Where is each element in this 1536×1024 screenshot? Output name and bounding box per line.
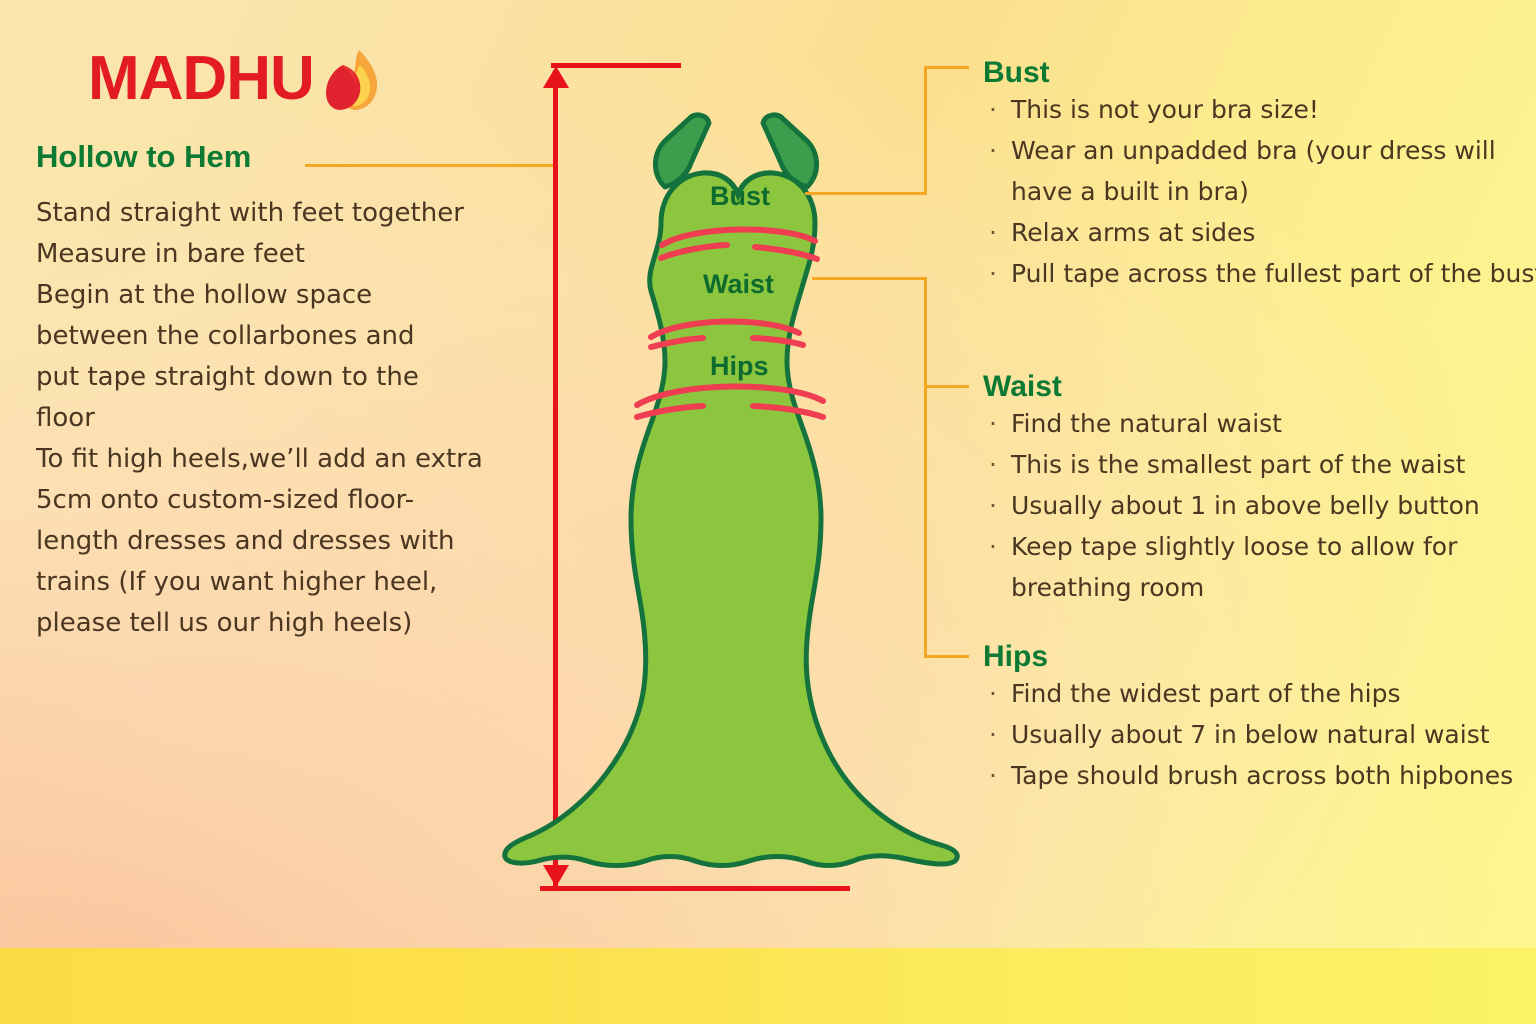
bullet-glyph: ·	[989, 714, 997, 755]
bullet-glyph: ·	[989, 130, 997, 171]
waist-bullet-list: ·Find the natural waist ·This is the sma…	[983, 403, 1536, 608]
bullet-glyph: ·	[989, 403, 997, 444]
dress-label-waist: Waist	[703, 269, 774, 300]
bullet-glyph: ·	[989, 444, 997, 485]
infographic-canvas: MADHU Hollow to Hem Stand straight with …	[0, 0, 1536, 1024]
bust-bullet-list: ·This is not your bra size! ·Wear an unp…	[983, 89, 1536, 294]
bullet-item: ·This is the smallest part of the waist	[983, 444, 1536, 485]
waist-heading: Waist	[983, 370, 1536, 403]
section-waist: Waist ·Find the natural waist ·This is t…	[983, 370, 1536, 608]
hollow-to-hem-heading: Hollow to Hem	[36, 139, 251, 175]
bullet-text: Usually about 1 in above belly button	[1011, 491, 1480, 520]
brand-name: MADHU	[88, 48, 314, 110]
bullet-text: Find the widest part of the hips	[1011, 679, 1400, 708]
bullet-item: ·Tape should brush across both hipbones	[983, 755, 1536, 796]
bust-connector-vertical	[924, 66, 927, 195]
bullet-text: Wear an unpadded bra (your dress will ha…	[1011, 136, 1496, 206]
waist-connector-elbow	[924, 385, 969, 388]
section-hips: Hips ·Find the widest part of the hips ·…	[983, 640, 1536, 796]
bullet-glyph: ·	[989, 89, 997, 130]
bullet-item: ·Wear an unpadded bra (your dress will h…	[983, 130, 1536, 212]
bullet-item: ·Find the widest part of the hips	[983, 673, 1536, 714]
bullet-text: Relax arms at sides	[1011, 218, 1255, 247]
hips-connector-elbow	[924, 655, 969, 658]
bullet-glyph: ·	[989, 673, 997, 714]
bullet-glyph: ·	[989, 526, 997, 567]
bullet-item: ·Usually about 1 in above belly button	[983, 485, 1536, 526]
flame-icon	[324, 48, 382, 114]
bullet-glyph: ·	[989, 253, 997, 294]
bullet-item: ·Find the natural waist	[983, 403, 1536, 444]
bullet-text: Usually about 7 in below natural waist	[1011, 720, 1490, 749]
hips-heading: Hips	[983, 640, 1536, 673]
bust-connector-horizontal	[805, 192, 927, 195]
section-bust: Bust ·This is not your bra size! ·Wear a…	[983, 56, 1536, 294]
bullet-text: This is the smallest part of the waist	[1011, 450, 1465, 479]
bullet-item: ·Pull tape across the fullest part of th…	[983, 253, 1536, 294]
bullet-item: ·Relax arms at sides	[983, 212, 1536, 253]
dress-label-bust: Bust	[710, 181, 770, 212]
hips-bullet-list: ·Find the widest part of the hips ·Usual…	[983, 673, 1536, 796]
bullet-text: Keep tape slightly loose to allow for br…	[1011, 532, 1457, 602]
bullet-item: ·This is not your bra size!	[983, 89, 1536, 130]
bullet-text: Find the natural waist	[1011, 409, 1282, 438]
bullet-item: ·Keep tape slightly loose to allow for b…	[983, 526, 1536, 608]
bullet-text: Tape should brush across both hipbones	[1011, 761, 1513, 790]
bullet-text: This is not your bra size!	[1011, 95, 1319, 124]
dress-label-hips: Hips	[710, 351, 769, 382]
bust-connector-elbow	[924, 66, 969, 69]
bullet-glyph: ·	[989, 212, 997, 253]
brand-logo: MADHU	[88, 44, 382, 114]
bullet-item: ·Usually about 7 in below natural waist	[983, 714, 1536, 755]
waist-connector-horizontal	[812, 277, 927, 280]
bust-heading: Bust	[983, 56, 1536, 89]
footer-bar	[0, 948, 1536, 1024]
waist-hips-connector-vertical	[924, 277, 927, 658]
bullet-text: Pull tape across the fullest part of the…	[1011, 259, 1536, 288]
bullet-glyph: ·	[989, 485, 997, 526]
bullet-glyph: ·	[989, 755, 997, 796]
